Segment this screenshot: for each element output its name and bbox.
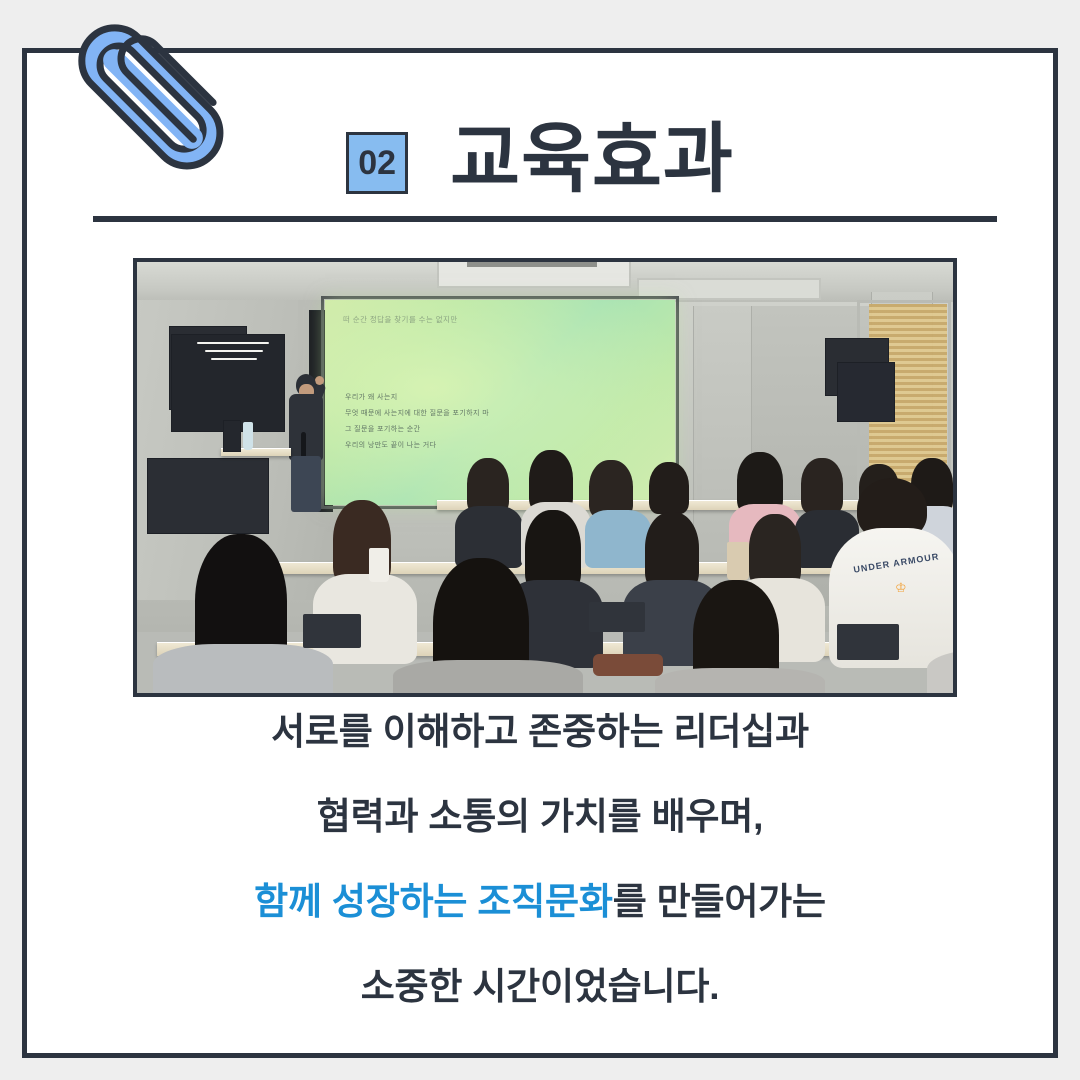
presenter-body	[289, 394, 323, 460]
attendee-head	[801, 458, 843, 514]
presenter-hand	[315, 376, 324, 385]
section-header: 02 교육효과	[27, 105, 1053, 215]
body-line-2: 협력과 소통의 가치를 배우며,	[27, 798, 1053, 835]
slide-headline: 떠 순간 정답을 찾기를 수는 없지만	[343, 314, 458, 325]
side-cabinet	[147, 458, 269, 534]
body-line-1: 서로를 이해하고 존중하는 리더십과	[27, 713, 1053, 750]
body-line-4: 소중한 시간이었습니다.	[27, 968, 1053, 1005]
page-title: 교육효과	[450, 122, 734, 198]
attendee-body	[655, 668, 825, 693]
poster-canvas: 02 교육효과	[0, 0, 1080, 1080]
paper-cup	[727, 542, 749, 580]
whiteboard-scribble	[197, 340, 269, 366]
attendee-head	[649, 462, 689, 514]
header-divider	[93, 216, 997, 222]
ceiling-vent	[467, 262, 597, 267]
content-card: 02 교육효과	[22, 48, 1058, 1058]
wall-panel-dark-right	[837, 362, 895, 422]
slide-line-2: 무엇 때문에 사는지에 대한 질문을 포기하지 마	[345, 408, 489, 418]
attendee-body	[393, 660, 583, 693]
presenter-microphone	[301, 432, 306, 458]
attendee-body	[153, 644, 333, 693]
body-highlight: 함께 성장하는 조직문화	[254, 881, 613, 922]
body-line-3: 함께 성장하는 조직문화를 만들어가는	[27, 883, 1053, 920]
podium-box	[223, 420, 241, 452]
body-line-3-rest: 를 만들어가는	[613, 881, 826, 922]
section-number-badge: 02	[346, 132, 408, 194]
water-bottle	[243, 422, 253, 450]
slide-line-1: 우리가 왜 사는지	[345, 392, 398, 402]
presenter	[285, 374, 329, 514]
slide-line-3: 그 질문을 포기하는 순간	[345, 424, 420, 434]
paper-cup	[369, 548, 389, 582]
under-armour-logo-icon: ♔	[895, 580, 907, 596]
laptop	[303, 614, 361, 648]
laptop	[589, 602, 645, 632]
slide-line-4: 우리의 낭만도 끝이 나는 거다	[345, 440, 436, 450]
pencil-case	[593, 654, 663, 676]
body-copy: 서로를 이해하고 존중하는 리더십과 협력과 소통의 가치를 배우며, 함께 성…	[27, 713, 1053, 1005]
photo-scene: 떠 순간 정답을 찾기를 수는 없지만 우리가 왜 사는지 무엇 때문에 사는지…	[137, 262, 953, 693]
attendee-body	[585, 510, 651, 568]
laptop	[837, 624, 899, 660]
attendee-head	[749, 514, 801, 588]
lecture-photo: 떠 순간 정답을 찾기를 수는 없지만 우리가 왜 사는지 무엇 때문에 사는지…	[133, 258, 957, 697]
presenter-legs	[291, 456, 321, 512]
attendee-head	[645, 512, 699, 590]
